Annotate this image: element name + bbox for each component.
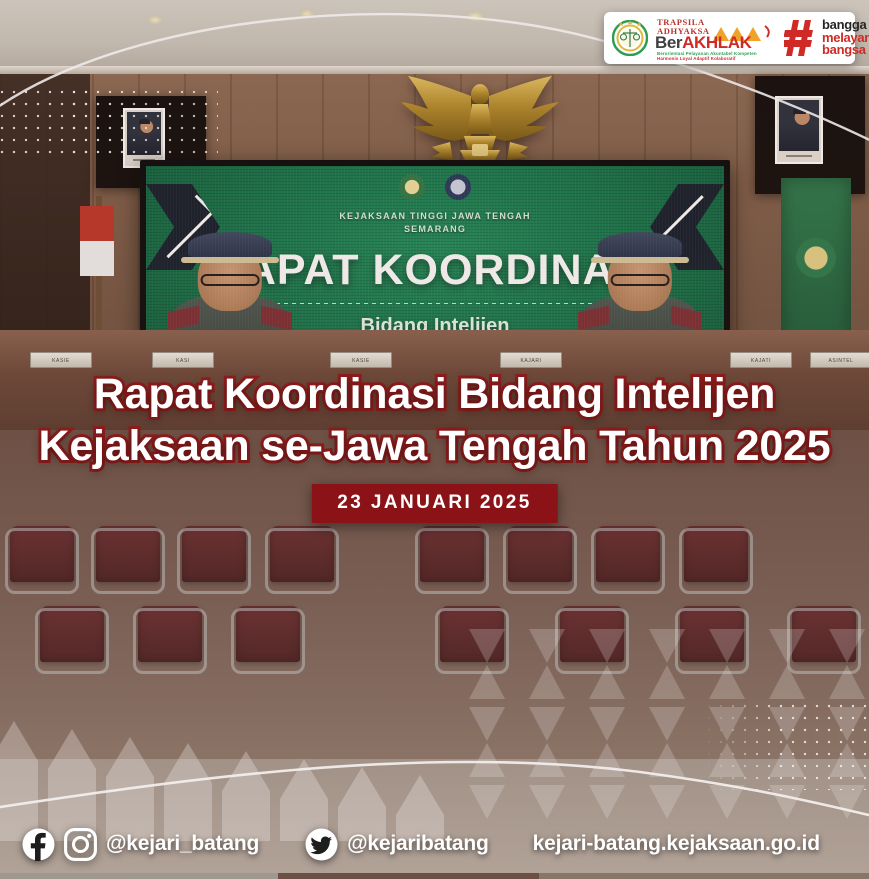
berakhlak-prefix: Ber — [655, 33, 682, 52]
panelist — [606, 322, 640, 366]
attendee — [76, 656, 132, 748]
social-handle-1[interactable]: @kejari_batang — [106, 832, 259, 856]
event-date-badge: 23 JANUARI 2025 — [311, 484, 557, 523]
uniform-cap-icon — [598, 232, 682, 258]
screen-org-line1: KEJAKSAAN TINGGI JAWA TENGAH — [146, 210, 724, 223]
attendee — [620, 626, 694, 718]
panelist — [402, 322, 436, 366]
attendee — [712, 630, 786, 722]
portrait-right — [775, 96, 823, 164]
official-portrait-icon — [127, 112, 161, 155]
attendee — [800, 636, 869, 728]
hashtag-icon — [784, 18, 814, 58]
ceiling-lamp — [300, 10, 314, 18]
official-portrait-icon — [779, 100, 819, 151]
social-footer: @kejari_batang @kejaribatang kejari-bata… — [0, 815, 869, 879]
nameplate: KAJATI — [730, 352, 792, 368]
screen-org-line2: SEMARANG — [146, 223, 724, 236]
attendee — [452, 638, 518, 730]
website-url[interactable]: kejari-batang.kejaksaan.go.id — [533, 832, 820, 856]
attendee — [146, 652, 204, 744]
chair — [10, 526, 74, 582]
indonesia-flag-icon — [80, 206, 114, 276]
poster-canvas: KEJAKSAAN TINGGI JAWA TENGAH SEMARANG RA… — [0, 0, 869, 879]
nameplate: KASIE — [30, 352, 92, 368]
ceiling-lamp — [466, 12, 484, 21]
twitter-icon[interactable] — [305, 828, 338, 861]
chair — [40, 606, 104, 662]
facebook-icon[interactable] — [22, 828, 55, 861]
nameplate: KASIE — [330, 352, 392, 368]
event-photo-background: KEJAKSAAN TINGGI JAWA TENGAH SEMARANG RA… — [0, 0, 869, 879]
portrait-caption — [779, 152, 819, 161]
kejaksaan-logo-icon — [399, 174, 425, 200]
kejaksaan-seal-icon — [612, 20, 648, 56]
footer-group-twitter[interactable]: @kejaribatang — [305, 828, 489, 861]
nameplate: ASINTEL — [810, 352, 869, 368]
attendee — [10, 662, 62, 754]
values-line2: Harmonis Loyal Adaptif Kolaboratif — [657, 56, 736, 61]
glasses-icon — [611, 274, 670, 286]
attendee — [216, 646, 276, 738]
instagram-icon[interactable] — [64, 828, 97, 861]
berakhlak-wordmark: BerAKHLAK — [655, 34, 752, 51]
attendee — [534, 634, 604, 726]
screen-organization: KEJAKSAAN TINGGI JAWA TENGAH SEMARANG — [146, 210, 724, 236]
adhyaksa-badge-icon — [445, 174, 471, 200]
attendee — [612, 516, 686, 636]
attendee — [292, 640, 358, 732]
ceiling-lamp — [148, 16, 162, 24]
berakhlak-suffix: AKHLAK — [682, 33, 751, 52]
nameplate: KAJARI — [500, 352, 562, 368]
peci-cap-icon — [793, 108, 807, 114]
screen-divider — [236, 300, 634, 307]
footer-bottom-edge — [0, 873, 869, 879]
berakhlak-logo: TRAPSILA ADHYAKSA BerAKHLAK Berorientasi… — [655, 15, 777, 61]
portrait-left — [123, 108, 165, 168]
brand-bar: TRAPSILA ADHYAKSA BerAKHLAK Berorientasi… — [604, 12, 855, 64]
glasses-icon — [201, 274, 260, 286]
attendee — [250, 464, 308, 556]
uniform-cap-icon — [188, 232, 272, 258]
peci-cap-icon — [139, 119, 151, 124]
attendee — [118, 510, 214, 660]
attendee — [372, 642, 438, 734]
chevron-right-icon — [146, 184, 220, 270]
nameplate: KASI — [152, 352, 214, 368]
core-values-text: Berorientasi Pelayanan Akuntabel Kompete… — [657, 51, 769, 61]
bangga-melayani-bangsa-tagline: bangga melayani bangsa — [821, 19, 869, 57]
tagline-line3: bangsa — [822, 44, 869, 57]
footer-group-meta[interactable]: @kejari_batang — [22, 828, 259, 861]
screen-logos — [146, 174, 724, 200]
chevron-left-icon — [650, 184, 724, 270]
attendee — [790, 468, 848, 560]
panelist — [700, 322, 734, 366]
screen-title: RAPAT KOORDINASI — [146, 246, 724, 295]
social-handle-2[interactable]: @kejaribatang — [347, 832, 489, 856]
